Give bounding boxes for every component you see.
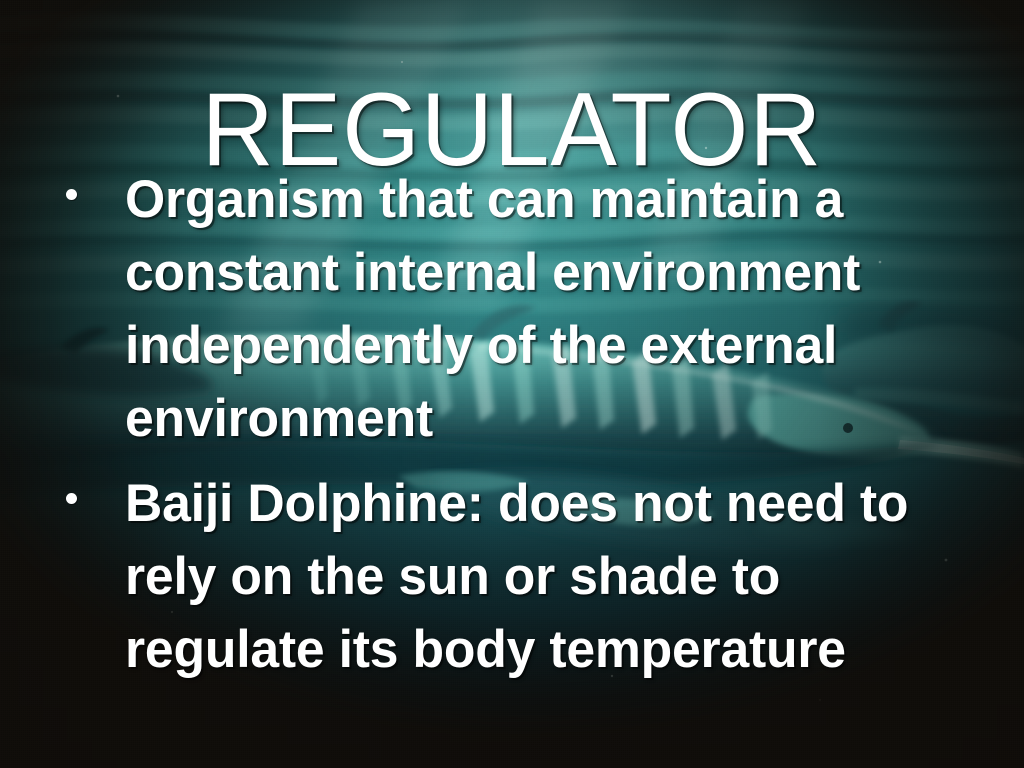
list-item: Baiji Dolphine: does not need to rely on…: [58, 467, 988, 686]
bullet-list: Organism that can maintain a constant in…: [58, 163, 988, 686]
bullet-dot-icon: [66, 189, 77, 200]
presentation-slide: REGULATOR Organism that can maintain a c…: [0, 0, 1024, 768]
slide-content: REGULATOR Organism that can maintain a c…: [0, 0, 1024, 768]
list-item: Organism that can maintain a constant in…: [58, 163, 988, 455]
bullet-dot-icon: [66, 493, 77, 504]
bullet-text: Baiji Dolphine: does not need to rely on…: [125, 467, 966, 686]
bullet-text: Organism that can maintain a constant in…: [125, 163, 966, 455]
